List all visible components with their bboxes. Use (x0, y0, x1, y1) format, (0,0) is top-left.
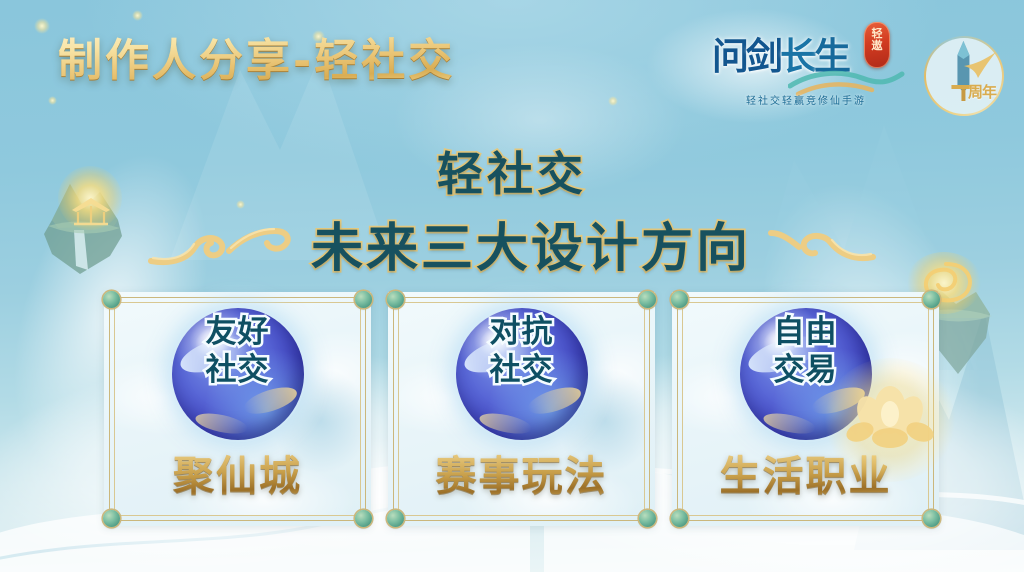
orb-text-line-2: 社交 (104, 352, 371, 390)
design-direction-card[interactable]: 对抗 社交 赛事玩法 (388, 292, 655, 526)
jade-corner-icon (671, 291, 688, 308)
seal-char: 遨 (864, 41, 890, 53)
jade-corner-icon (671, 510, 688, 527)
main-heading: 轻社交 未来三大设计方向 (0, 138, 1024, 281)
sparkle-icon (34, 18, 50, 34)
design-direction-card[interactable]: 自由 交易 生活职业 (672, 292, 939, 526)
game-logo: 问剑长生 轻 遨 轻社交轻赢竞修仙手游 (712, 14, 912, 120)
orb-text-line-2: 社交 (388, 352, 655, 390)
jade-corner-icon (387, 510, 404, 527)
orb-text-line-1: 友好 (104, 314, 371, 352)
jade-corner-icon (103, 291, 120, 308)
heading-row-2: 未来三大设计方向 (0, 206, 1024, 281)
cloud-swirl-icon (145, 217, 295, 271)
anniversary-label: 周年 (968, 85, 996, 100)
cloud-swirl-icon (767, 217, 879, 271)
card-orb-text: 友好 社交 (104, 314, 371, 390)
orb-text-line-2: 交易 (672, 352, 939, 390)
orb-text-line-1: 自由 (672, 314, 939, 352)
design-directions-card-list: 友好 社交 聚仙城 对抗 社交 赛事玩法 (104, 292, 939, 526)
sparkle-icon (132, 10, 143, 21)
design-direction-card[interactable]: 友好 社交 聚仙城 (104, 292, 371, 526)
slide-canvas: 制作人分享-轻社交 问剑长生 轻 遨 轻社交轻赢竞修仙手游 周年 轻社交 (0, 0, 1024, 572)
star-icon (964, 52, 998, 78)
game-tagline: 轻社交轻赢竞修仙手游 (746, 92, 896, 107)
jade-corner-icon (387, 291, 404, 308)
card-label: 赛事玩法 (388, 442, 655, 502)
logo-char: 问 (712, 34, 746, 78)
jade-corner-icon (639, 510, 656, 527)
card-orb-text: 自由 交易 (672, 314, 939, 390)
orb-text-line-1: 对抗 (388, 314, 655, 352)
seal-char: 轻 (864, 29, 890, 41)
page-title: 制作人分享-轻社交 (58, 24, 455, 88)
jade-corner-icon (923, 291, 940, 308)
logo-seal: 轻 遨 (864, 22, 890, 68)
heading-line-1: 轻社交 (437, 138, 587, 204)
jade-corner-icon (639, 291, 656, 308)
jade-corner-icon (103, 510, 120, 527)
sparkle-icon (608, 96, 618, 106)
card-label: 聚仙城 (104, 442, 371, 502)
jade-corner-icon (355, 510, 372, 527)
jade-corner-icon (355, 291, 372, 308)
heading-line-2: 未来三大设计方向 (311, 206, 751, 281)
logo-char: 剑 (746, 34, 780, 78)
sparkle-icon (48, 96, 57, 105)
card-label: 生活职业 (672, 442, 939, 502)
anniversary-badge: 周年 (918, 30, 1010, 122)
jade-corner-icon (923, 510, 940, 527)
card-orb-text: 对抗 社交 (388, 314, 655, 390)
